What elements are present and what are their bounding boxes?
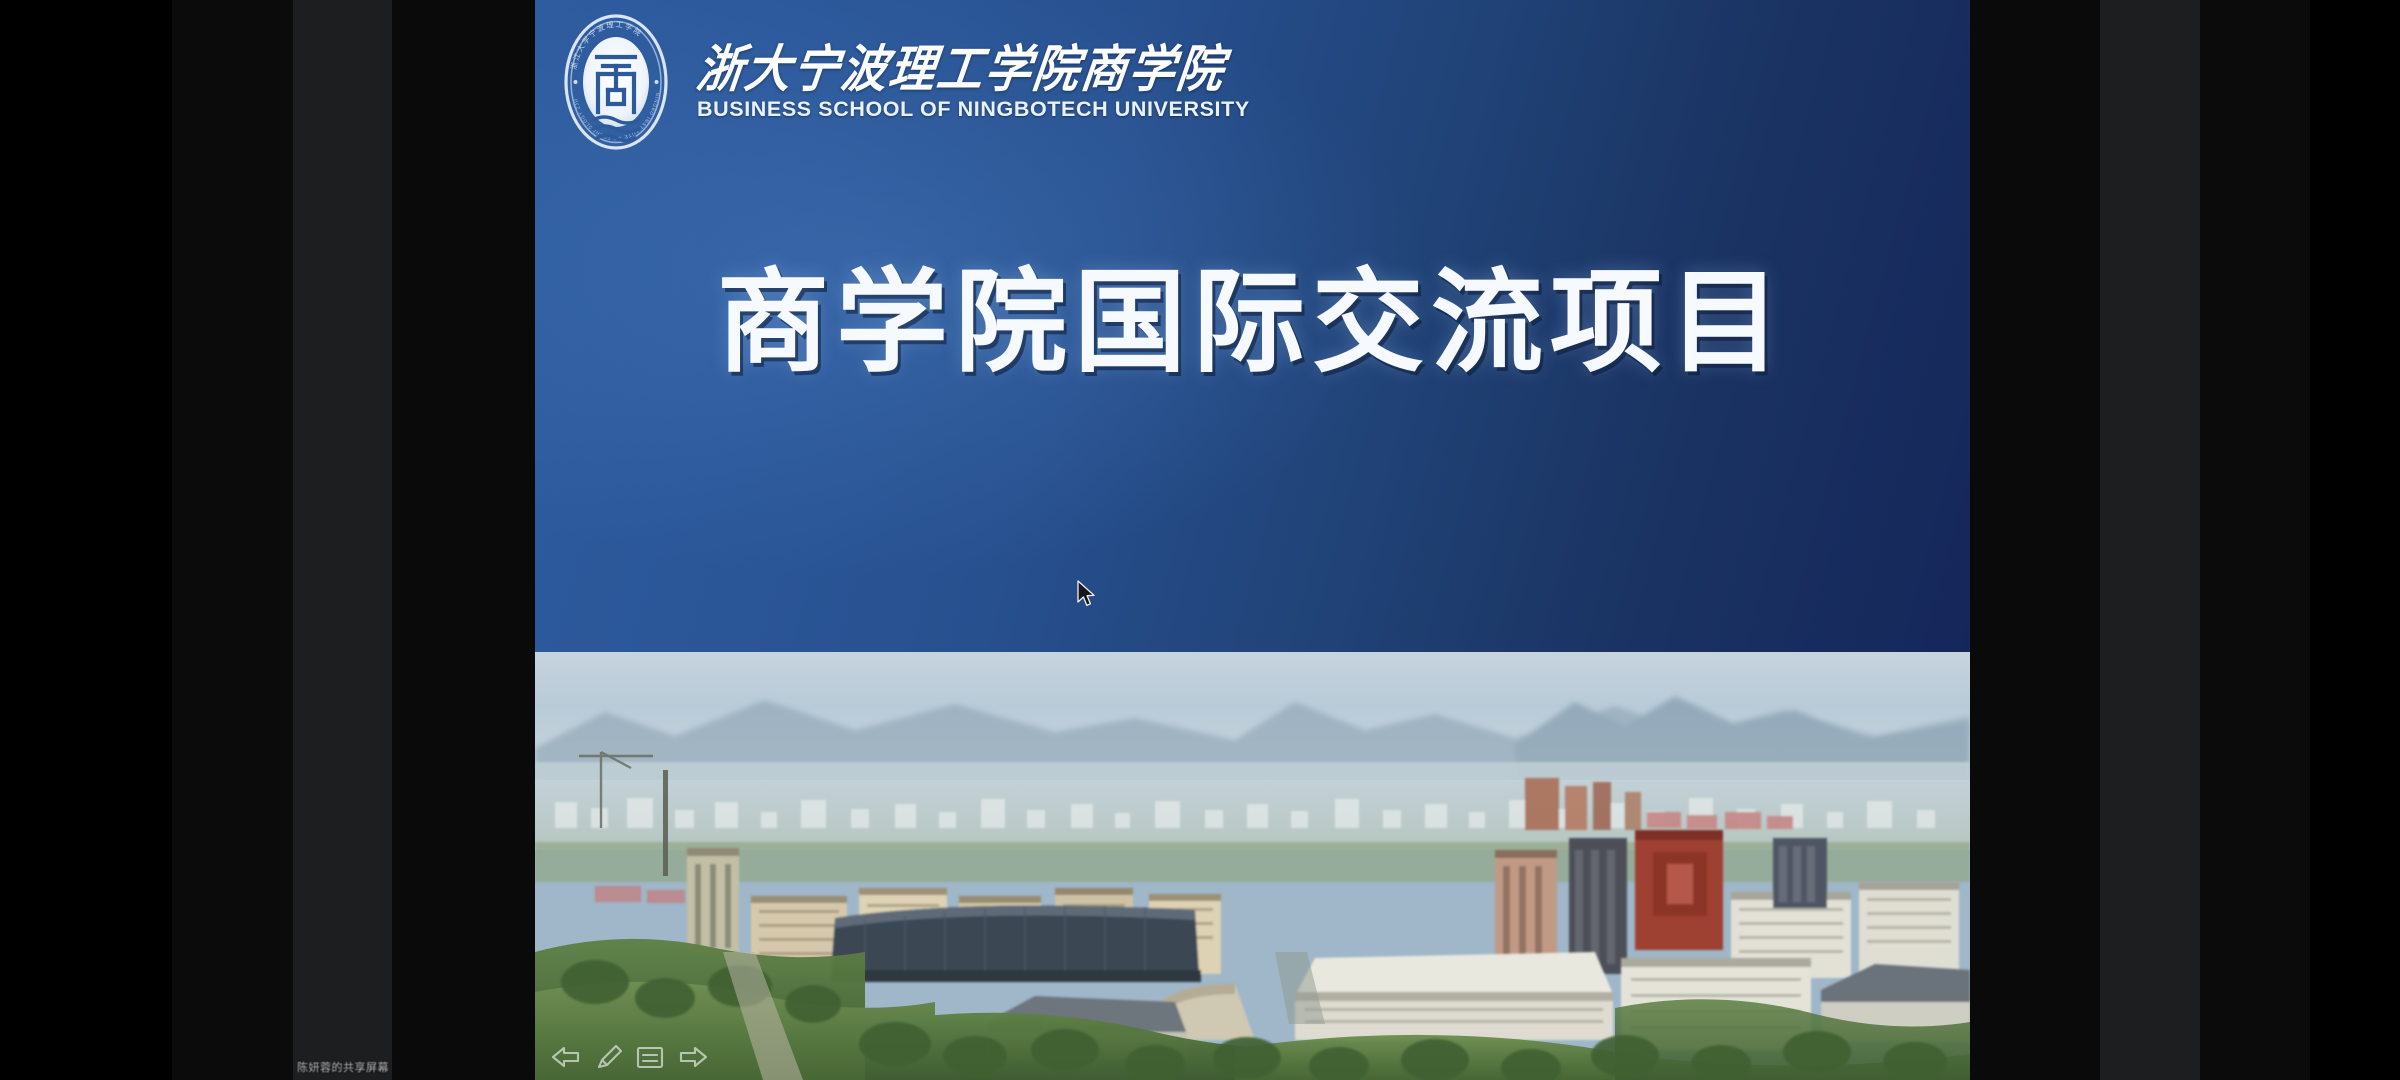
screen-share-viewport: 浙江大学宁波理工学院 NINGBO INSTITUTE OF TECHNOLOG… <box>0 0 2400 1080</box>
previous-slide-arrow-icon[interactable] <box>549 1042 587 1072</box>
backdrop-left-near <box>392 0 535 1080</box>
campus-aerial-photo <box>535 652 1970 1080</box>
school-name-chinese: 浙大宁波理工学院商学院 <box>694 44 1253 98</box>
backdrop-far-right <box>2310 0 2400 1080</box>
pen-annotation-icon[interactable] <box>590 1042 628 1072</box>
backdrop-right-light <box>2100 0 2200 1080</box>
slideshow-menu-icon[interactable] <box>631 1042 669 1072</box>
school-name-block: 浙大宁波理工学院商学院 BUSINESS SCHOOL OF NINGBOTEC… <box>697 42 1250 122</box>
backdrop-right-near <box>1970 0 2100 1080</box>
backdrop-far-left <box>0 0 172 1080</box>
backdrop-left-light <box>293 0 392 1080</box>
slideshow-toolbar[interactable] <box>549 1042 710 1072</box>
slide-header: 浙江大学宁波理工学院 NINGBO INSTITUTE OF TECHNOLOG… <box>557 8 1250 156</box>
backdrop-left-mid <box>172 0 293 1080</box>
backdrop-right-mid <box>2200 0 2310 1080</box>
next-slide-arrow-icon[interactable] <box>672 1042 710 1072</box>
screen-share-label: 陈妍蓉的共享屏幕 <box>297 1059 389 1075</box>
ningbotech-university-emblem-icon: 浙江大学宁波理工学院 NINGBO INSTITUTE OF TECHNOLOG… <box>557 8 675 156</box>
shared-slide[interactable]: 浙江大学宁波理工学院 NINGBO INSTITUTE OF TECHNOLOG… <box>535 0 1970 1080</box>
school-name-english: BUSINESS SCHOOL OF NINGBOTECH UNIVERSITY <box>697 97 1250 122</box>
slide-title: 商学院国际交流项目 <box>535 268 1970 380</box>
